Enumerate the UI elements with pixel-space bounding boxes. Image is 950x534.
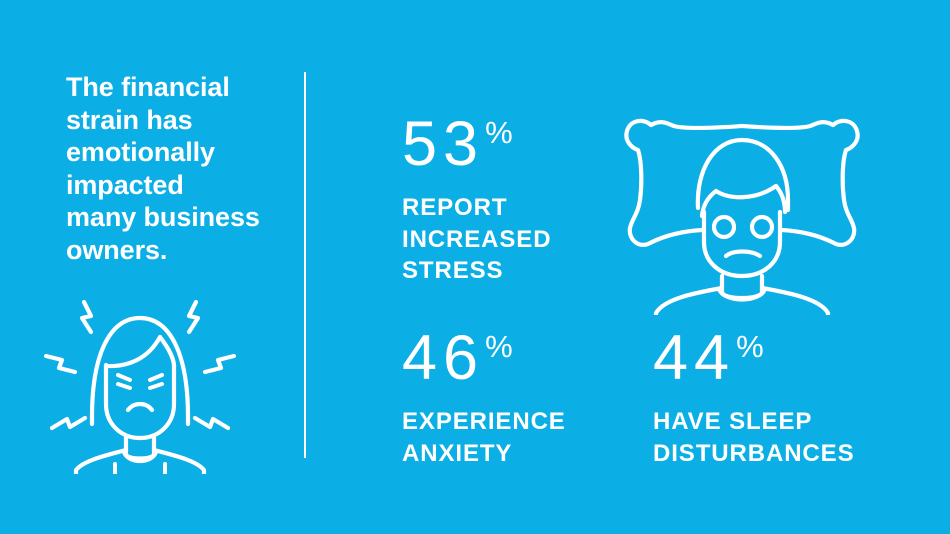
stat-label-anxiety: EXPERIENCE ANXIETY (402, 406, 566, 469)
stat-value-stress: 53 (402, 113, 484, 176)
stat-block-sleep: 44 % HAVE SLEEP DISTURBANCES (653, 327, 854, 469)
stat-number-anxiety: 46 % (402, 327, 566, 390)
stat-block-anxiety: 46 % EXPERIENCE ANXIETY (402, 327, 566, 469)
infographic-canvas: The financial strain has emotionally imp… (0, 0, 950, 534)
vertical-divider (304, 72, 306, 458)
stat-block-stress: 53 % REPORT INCREASED STRESS (402, 113, 551, 287)
percent-symbol: % (485, 331, 513, 362)
stat-label-stress: REPORT INCREASED STRESS (402, 192, 551, 287)
page-title: The financial strain has emotionally imp… (66, 71, 281, 266)
percent-symbol: % (736, 331, 764, 362)
stressed-woman-icon (44, 288, 236, 479)
stat-value-anxiety: 46 (402, 327, 484, 390)
stat-label-sleep: HAVE SLEEP DISTURBANCES (653, 406, 854, 469)
stat-number-stress: 53 % (402, 113, 551, 176)
stressed-woman-illustration (44, 288, 236, 474)
sleep-disturbance-illustration (618, 100, 866, 315)
stat-number-sleep: 44 % (653, 327, 854, 390)
percent-symbol: % (485, 117, 513, 148)
stat-value-sleep: 44 (653, 327, 735, 390)
person-on-pillow-icon (618, 100, 866, 320)
